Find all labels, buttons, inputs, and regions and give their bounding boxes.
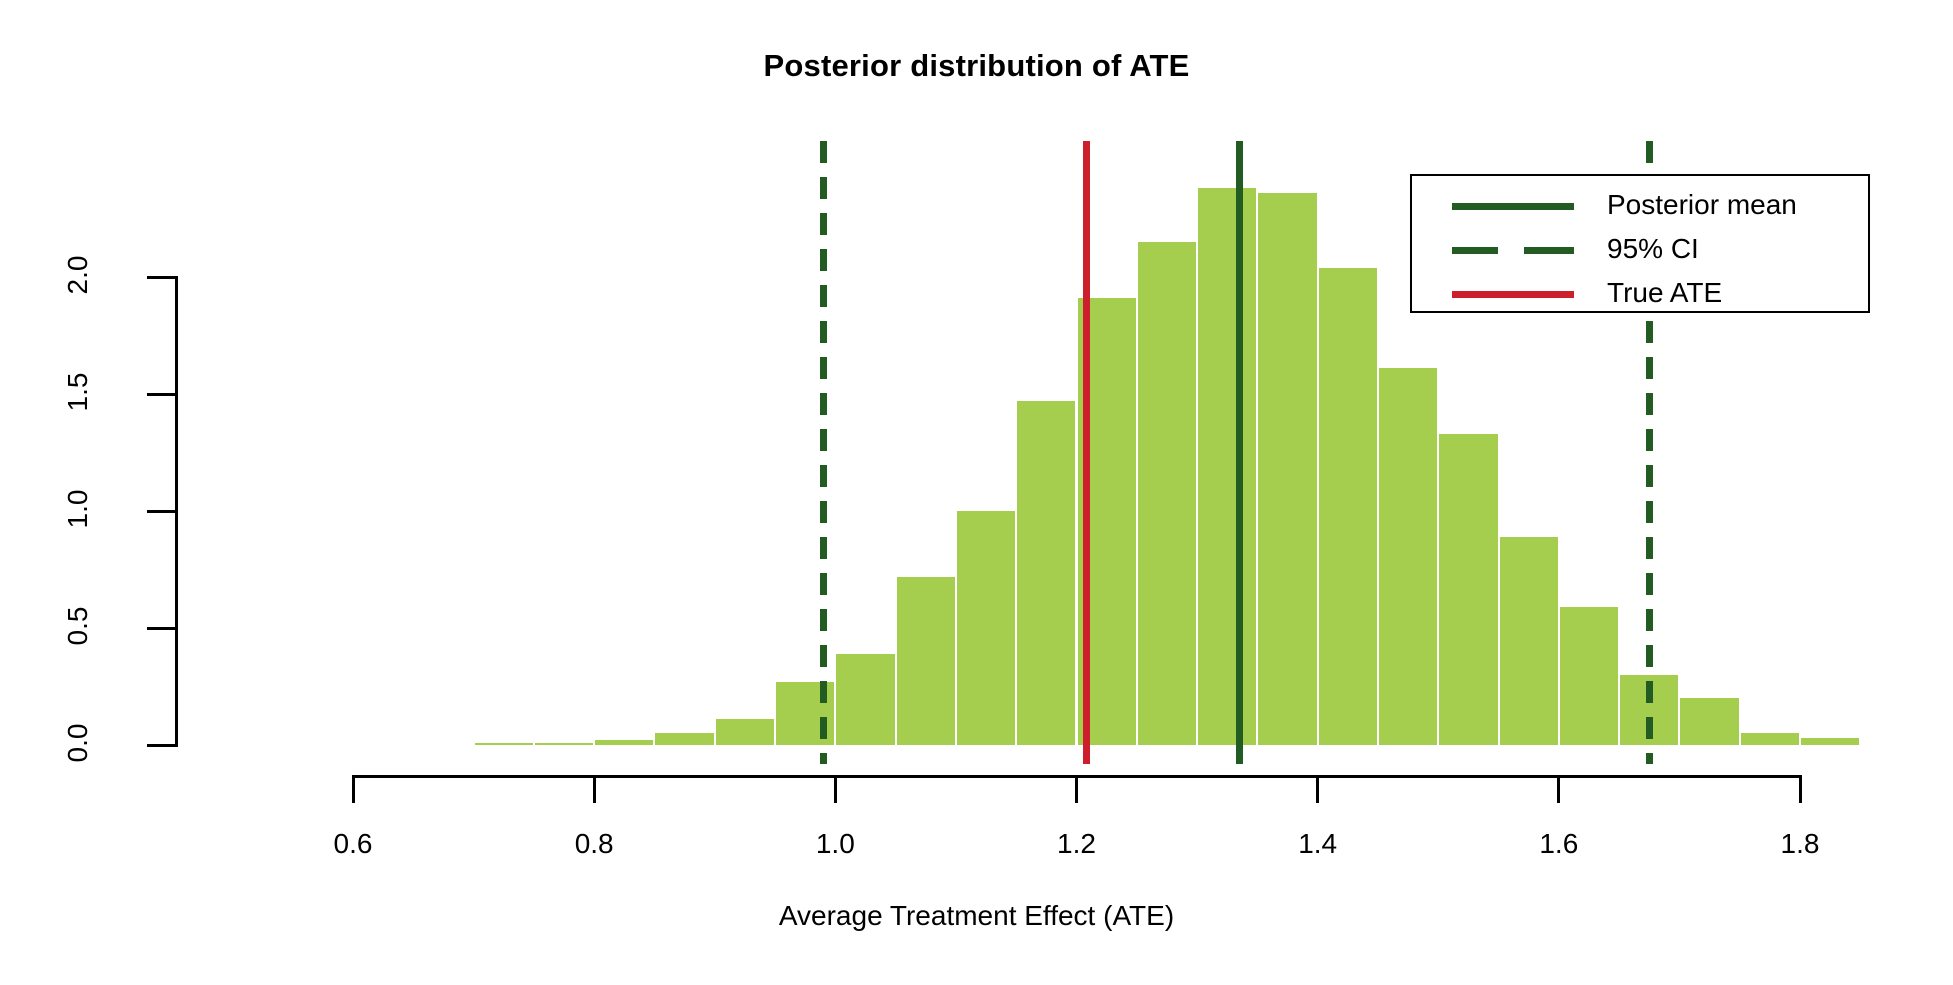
histogram-bar	[1559, 607, 1619, 745]
histogram-bar	[1257, 193, 1317, 745]
legend-entry: 95% CI	[1412, 228, 1868, 272]
legend-entry: True ATE	[1412, 272, 1868, 316]
histogram-bar	[1679, 698, 1739, 745]
histogram-bar	[1318, 268, 1378, 745]
x-tick-label: 1.4	[1258, 828, 1378, 860]
legend-label: 95% CI	[1607, 233, 1699, 265]
histogram-bar	[1378, 368, 1438, 745]
legend-key-dashed-green-icon	[1452, 247, 1574, 254]
histogram-bar	[534, 743, 594, 745]
x-tick-label: 1.0	[775, 828, 895, 860]
x-axis-tick	[352, 775, 355, 803]
chart-canvas: Posterior distribution of ATE 0.60.81.01…	[0, 0, 1953, 985]
x-axis-label: Average Treatment Effect (ATE)	[0, 900, 1953, 932]
x-axis-tick	[834, 775, 837, 803]
y-axis-tick	[147, 393, 178, 396]
y-axis-tick	[147, 276, 178, 279]
y-tick-label: 0.5	[62, 566, 94, 686]
x-tick-label: 1.2	[1017, 828, 1137, 860]
histogram-bar	[1197, 188, 1257, 745]
x-axis-tick	[1557, 775, 1560, 803]
histogram-bar	[654, 733, 714, 745]
legend-entry: Posterior mean	[1412, 184, 1868, 228]
y-tick-label: 1.0	[62, 449, 94, 569]
x-tick-label: 1.6	[1499, 828, 1619, 860]
legend-label: Posterior mean	[1607, 189, 1797, 221]
y-axis-tick	[147, 744, 178, 747]
posterior-mean-line	[1236, 141, 1243, 764]
y-axis-tick	[147, 510, 178, 513]
true-ate-line	[1083, 141, 1090, 764]
x-tick-label: 0.8	[534, 828, 654, 860]
y-tick-label: 0.0	[62, 683, 94, 803]
histogram-bar	[896, 577, 956, 745]
y-tick-label: 2.0	[62, 215, 94, 335]
x-axis-tick	[593, 775, 596, 803]
histogram-bar	[1800, 738, 1860, 745]
x-axis-tick	[1075, 775, 1078, 803]
chart-legend: Posterior mean95% CITrue ATE	[1410, 174, 1870, 313]
histogram-bar	[1740, 733, 1800, 745]
histogram-bar	[1499, 537, 1559, 745]
legend-key-solid-green-icon	[1452, 203, 1574, 210]
ci-lower-line	[820, 141, 827, 764]
legend-key-solid-red-icon	[1452, 291, 1574, 298]
x-axis-tick	[1316, 775, 1319, 803]
histogram-bar	[1438, 434, 1498, 745]
histogram-bar	[715, 719, 775, 745]
histogram-bar	[1137, 242, 1197, 745]
histogram-bar	[835, 654, 895, 745]
histogram-bar	[956, 511, 1016, 745]
histogram-bar	[474, 743, 534, 745]
x-axis-tick	[1799, 775, 1802, 803]
x-tick-label: 1.8	[1740, 828, 1860, 860]
x-tick-label: 0.6	[293, 828, 413, 860]
y-tick-label: 1.5	[62, 332, 94, 452]
y-axis-tick	[147, 627, 178, 630]
histogram-bar	[594, 740, 654, 745]
histogram-bar	[1016, 401, 1076, 745]
legend-label: True ATE	[1607, 277, 1722, 309]
